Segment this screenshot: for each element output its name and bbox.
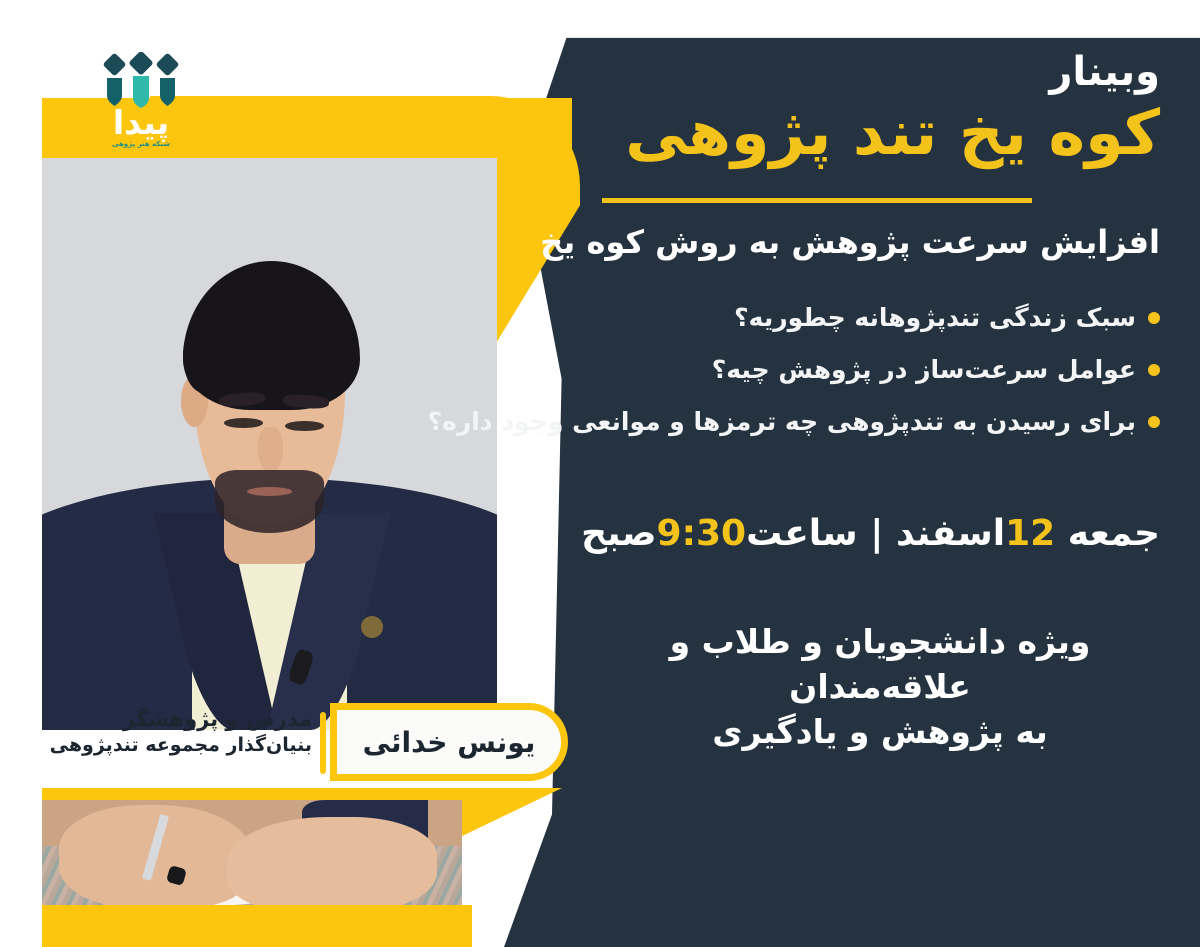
list-item: برای رسیدن به تندپژوهی چه ترمزها و موانع…: [540, 407, 1160, 437]
webinar-poster: پیدا شبکه هنر پژوهی یونس خدائی مدرس و پژ…: [0, 0, 1200, 947]
bullet-dot-icon: [1148, 364, 1160, 376]
logo-wordmark: پیدا: [86, 106, 196, 139]
title-underline-rule: [602, 198, 1032, 203]
list-item: سبک زندگی تندپژوهانه چطوریه؟: [540, 303, 1160, 333]
hand-right: [227, 817, 437, 913]
poster-content: وبینار کوه یخ تند پژوهی افزایش سرعت پژوه…: [520, 0, 1200, 947]
bullet-dot-icon: [1148, 312, 1160, 324]
photo-lapel-pin: [361, 616, 384, 639]
time-suffix: صبح: [581, 513, 656, 554]
event-type-kicker: وبینار: [1049, 52, 1160, 92]
badge-divider: [320, 712, 326, 774]
photo-beard: [215, 470, 324, 533]
bullet-text: سبک زندگی تندپژوهانه چطوریه؟: [734, 303, 1136, 333]
topic-list: سبک زندگی تندپژوهانه چطوریه؟ عوامل سرعت‌…: [540, 303, 1160, 459]
photo-eye-left: [224, 418, 263, 428]
speaker-name: یونس خدائی: [363, 726, 536, 759]
yellow-footer-strip: [42, 905, 472, 947]
page-title: کوه یخ تند پژوهی: [560, 100, 1160, 165]
time-label: ساعت: [746, 513, 858, 554]
photo-mouth: [247, 487, 293, 496]
hands-writing-photo: [42, 800, 462, 920]
photo-eye-right: [285, 421, 324, 431]
speaker-role-primary: مدرس و پژوهشگر: [40, 706, 312, 733]
logo-tagline: شبکه هنر پژوهی: [86, 140, 196, 148]
left-visual-column: پیدا شبکه هنر پژوهی یونس خدائی مدرس و پژ…: [0, 0, 560, 947]
photo-nose: [258, 427, 283, 473]
event-datetime: جمعه 12اسفند | ساعت9:30صبح: [540, 512, 1160, 555]
speaker-role-secondary: بنیان‌گذار مجموعه تندپژوهی: [40, 733, 312, 757]
speaker-roles: مدرس و پژوهشگر بنیان‌گذار مجموعه تندپژوه…: [40, 706, 312, 757]
time-value: 9:30: [657, 513, 747, 554]
audience-line-2: علاقه‌مندان: [600, 665, 1160, 710]
event-date-number: 12: [1005, 513, 1055, 554]
photo-sideburn: [183, 312, 229, 392]
list-item: عوامل سرعت‌ساز در پژوهش چیه؟: [540, 355, 1160, 385]
bullet-text: برای رسیدن به تندپژوهی چه ترمزها و موانع…: [428, 407, 1136, 437]
bullet-text: عوامل سرعت‌ساز در پژوهش چیه؟: [712, 355, 1136, 385]
brand-logo[interactable]: پیدا شبکه هنر پژوهی: [86, 52, 196, 164]
three-people-icon: [103, 52, 179, 108]
event-day: جمعه: [1068, 513, 1160, 554]
audience-line-1: ویژه دانشجویان و طلاب و: [600, 620, 1160, 665]
datetime-separator: |: [870, 513, 883, 554]
audience-line-3: به پژوهش و یادگیری: [600, 710, 1160, 755]
subtitle: افزایش سرعت پژوهش به روش کوه یخ: [550, 222, 1160, 262]
bullet-dot-icon: [1148, 416, 1160, 428]
event-month: اسفند: [896, 513, 1005, 554]
target-audience: ویژه دانشجویان و طلاب و علاقه‌مندان به پ…: [600, 620, 1160, 755]
speaker-photo: [42, 158, 497, 730]
